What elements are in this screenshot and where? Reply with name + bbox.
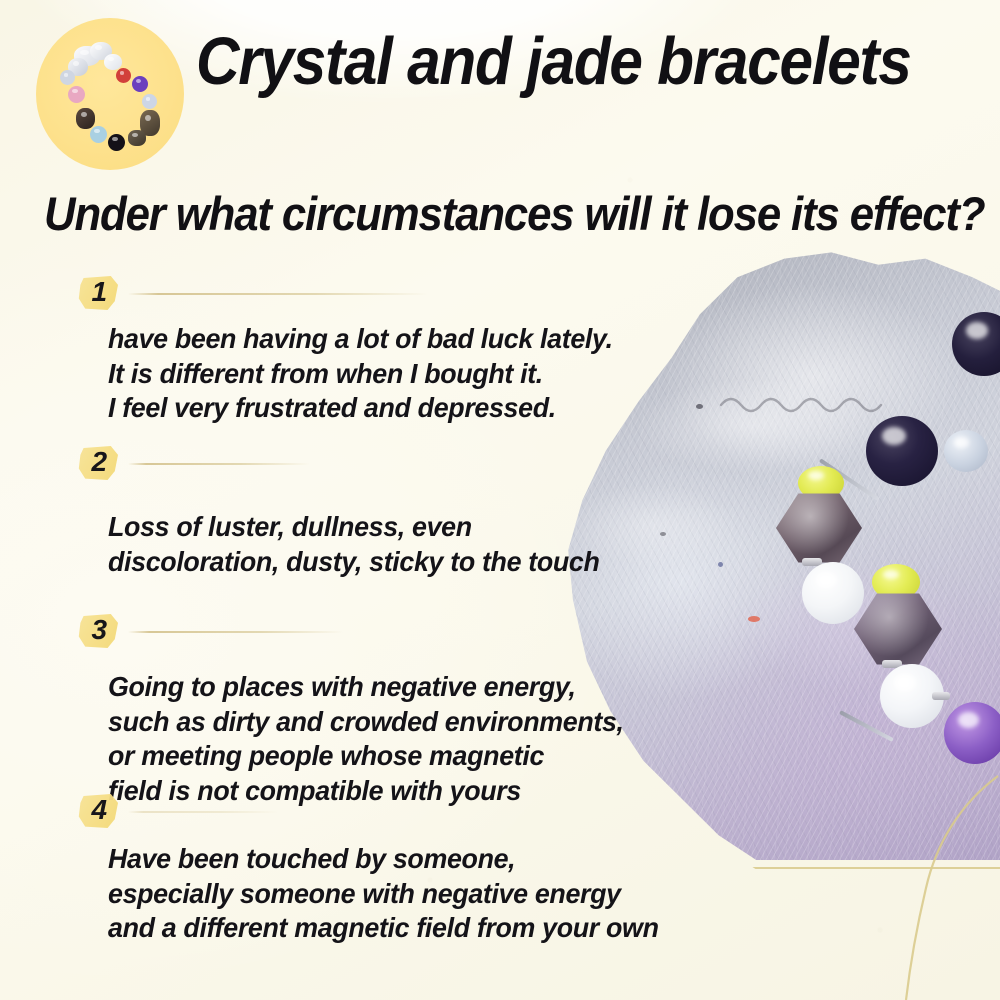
item-rule [128, 463, 310, 465]
item-line: such as dirty and crowded environments, [108, 705, 607, 740]
item-number: 2 [91, 448, 106, 476]
bead-smoky-quartz [776, 492, 862, 564]
item-number: 3 [91, 616, 106, 644]
item-number: 4 [91, 796, 106, 824]
item-badge-row: 2 [0, 446, 620, 480]
list-item: 3 Going to places with negative energy, … [0, 614, 620, 808]
bead-black [866, 416, 938, 486]
list-item: 1 have been having a lot of bad luck lat… [0, 276, 620, 426]
dish-speck [696, 404, 703, 409]
bead-smoky-quartz [854, 592, 942, 666]
item-text: Have been touched by someone, especially… [108, 842, 620, 946]
foil-squiggle-icon [719, 389, 919, 415]
item-number: 1 [91, 278, 106, 306]
item-number-badge: 1 [78, 276, 118, 310]
bead-clear-quartz [944, 430, 988, 472]
bracelet-logo [36, 18, 184, 170]
item-rule [128, 811, 278, 813]
item-badge-row: 1 [0, 276, 620, 310]
dish-speck [718, 562, 723, 567]
list-item: 4 Have been touched by someone, especial… [0, 794, 620, 946]
item-line: discoloration, dusty, sticky to the touc… [108, 545, 607, 580]
dish-speck-red [748, 616, 760, 622]
item-text: Loss of luster, dullness, even discolora… [108, 510, 620, 579]
item-line: especially someone with negative energy [108, 877, 607, 912]
item-line: and a different magnetic field from your… [108, 911, 607, 946]
item-number-badge: 4 [78, 794, 118, 828]
page-title: Crystal and jade bracelets [196, 28, 907, 95]
item-badge-row: 4 [0, 794, 620, 828]
item-line: Loss of luster, dullness, even [108, 510, 607, 545]
item-line: Going to places with negative energy, [108, 670, 607, 705]
page-subtitle: Under what circumstances will it lose it… [44, 190, 928, 237]
item-line: have been having a lot of bad luck latel… [108, 322, 607, 357]
item-number-badge: 2 [78, 446, 118, 480]
item-line: It is different from when I bought it. [108, 357, 607, 392]
item-number-badge: 3 [78, 614, 118, 648]
dish-speck [660, 532, 666, 536]
list-item: 2 Loss of luster, dullness, even discolo… [0, 446, 620, 579]
item-line: Have been touched by someone, [108, 842, 607, 877]
bracelet-icon [58, 42, 162, 146]
item-badge-row: 3 [0, 614, 620, 648]
bead-spacer [932, 692, 950, 700]
bead-amethyst [944, 702, 1000, 764]
item-line: I feel very frustrated and depressed. [108, 391, 607, 426]
item-text: have been having a lot of bad luck latel… [108, 322, 620, 426]
item-rule [128, 631, 343, 633]
item-rule [128, 293, 428, 295]
poster-canvas: Crystal and jade bracelets Under what ci… [0, 0, 1000, 1000]
item-line: or meeting people whose magnetic [108, 739, 607, 774]
item-text: Going to places with negative energy, su… [108, 670, 620, 808]
